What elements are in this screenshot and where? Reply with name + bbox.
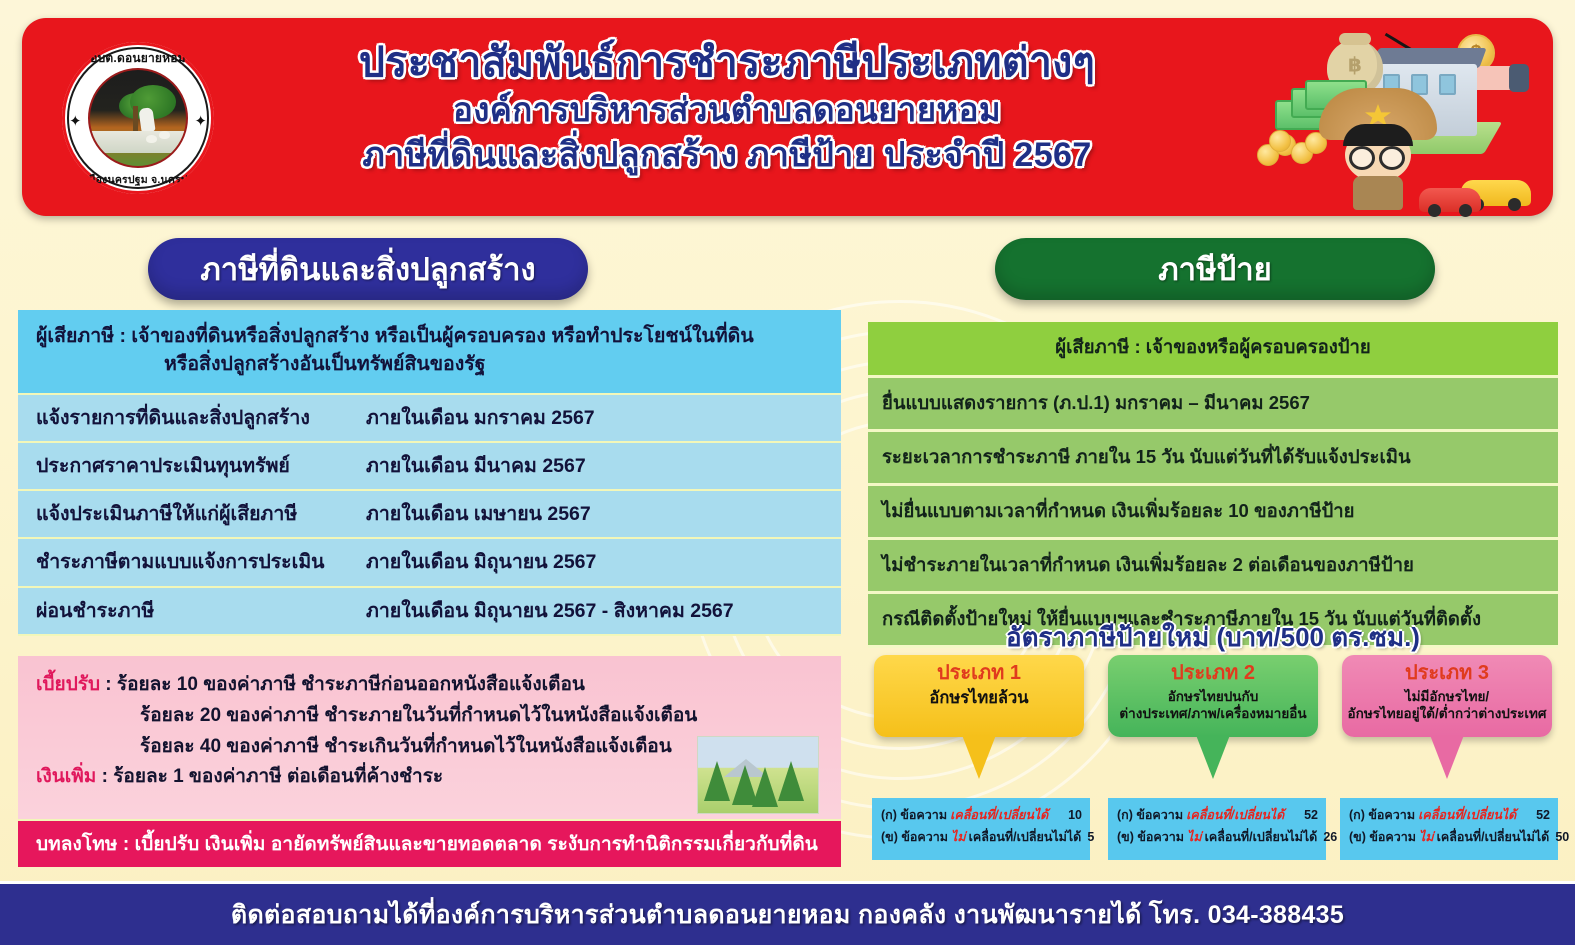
rate-3a-emphasis: เคลื่อนที่/เปลี่ยนได้ — [1418, 805, 1516, 827]
rate-row-a: (ก) ข้อความ เคลื่อนที่/เปลี่ยนได้ 52 — [1117, 805, 1318, 827]
contact-footer-text: ติดต่อสอบถามได้ที่องค์การบริหารส่วนตำบลด… — [231, 895, 1344, 935]
sign-tax-panel: ผู้เสียภาษี : เจ้าของหรือผู้ครอบครองป้าย… — [868, 322, 1558, 648]
rate-2a-emphasis: เคลื่อนที่/เปลี่ยนได้ — [1186, 805, 1284, 827]
rate-row-a: (ก) ข้อความ เคลื่อนที่/เปลี่ยนได้ 10 — [881, 805, 1082, 827]
rate-2b-suffix: เคลื่อนที่/เปลี่ยนไม่ได้ — [1205, 827, 1318, 849]
land-tax-row-label: แจ้งรายการที่ดินและสิ่งปลูกสร้าง — [36, 404, 366, 432]
rate-3a-value: 52 — [1530, 805, 1550, 827]
poster-header: ✦ ✦ อบต.ดอนยายหอม อ.เมืองนครปฐม จ.นครปฐม… — [22, 18, 1553, 216]
land-tax-row-label: แจ้งประเมินภาษีให้แก่ผู้เสียภาษี — [36, 500, 366, 528]
land-tax-taxpayer-row: ผู้เสียภาษี : เจ้าของที่ดินหรือสิ่งปลูกส… — [18, 310, 841, 395]
category-1-title: ประเภท 1 — [874, 662, 1084, 685]
sign-tax-category-badges: ประเภท 1 อักษรไทยล้วน ประเภท 2 อักษรไทยป… — [868, 655, 1558, 795]
penalty-fine-label: เบี้ยปรับ — [36, 674, 100, 695]
penalty-fine-line-2: ร้อยละ 20 ของค่าภาษี ชำระภายในวันที่กำหน… — [36, 701, 823, 732]
penalty-surcharge-label: เงินเพิ่ม — [36, 766, 96, 787]
land-tax-row-label: ประกาศราคาประเมินทุนทรัพย์ — [36, 452, 366, 480]
rate-box-category-1: (ก) ข้อความ เคลื่อนที่/เปลี่ยนได้ 10 (ข)… — [872, 798, 1090, 860]
header-line-3: ภาษีที่ดินและสิ่งปลูกสร้าง ภาษีป้าย ประจ… — [232, 136, 1222, 174]
rate-1b-value: 5 — [1081, 827, 1094, 849]
sign-tax-title-pill: ภาษีป้าย — [995, 238, 1435, 300]
red-car-icon — [1419, 188, 1481, 212]
table-row: ประกาศราคาประเมินทุนทรัพย์ ภายในเดือน มี… — [18, 443, 841, 491]
header-line-1: ประชาสัมพันธ์การชำระภาษีประเภทต่างๆ — [232, 40, 1222, 86]
category-1-desc-1: อักษรไทยล้วน — [874, 689, 1084, 709]
list-item: ระยะเวลาการชำระภาษี ภายใน 15 วัน นับแต่ว… — [868, 432, 1558, 486]
rate-2a-prefix: (ก) ข้อความ — [1117, 805, 1183, 827]
rate-2b-emphasis: ไม่ — [1187, 827, 1202, 849]
rate-3b-suffix: เคลื่อนที่/เปลี่ยนไม่ได้ — [1437, 827, 1550, 849]
rate-row-b: (ข) ข้อความ ไม่ เคลื่อนที่/เปลี่ยนไม่ได้… — [1349, 827, 1550, 849]
contact-footer-bar: ติดต่อสอบถามได้ที่องค์การบริหารส่วนตำบลด… — [0, 881, 1575, 945]
land-tax-panel: ผู้เสียภาษี : เจ้าของที่ดินหรือสิ่งปลูกส… — [18, 310, 841, 636]
category-badge-1: ประเภท 1 อักษรไทยล้วน — [874, 655, 1084, 737]
category-3-title: ประเภท 3 — [1342, 662, 1552, 685]
mascot-character-icon — [1319, 88, 1437, 208]
land-tax-taxpayer-line-1: ผู้เสียภาษี : เจ้าของที่ดินหรือสิ่งปลูกส… — [36, 322, 827, 350]
category-3-desc-2: อักษรไทยอยู่ใต้/ต่ำกว่าต่างประเทศ — [1342, 706, 1552, 722]
land-tax-title-pill: ภาษีที่ดินและสิ่งปลูกสร้าง — [148, 238, 588, 300]
rate-1a-prefix: (ก) ข้อความ — [881, 805, 947, 827]
penalty-fine-line-1: เบี้ยปรับ : ร้อยละ 10 ของค่าภาษี ชำระภาษ… — [36, 670, 823, 701]
rate-2b-value: 26 — [1317, 827, 1337, 849]
category-2-desc-2: ต่างประเทศ/ภาพ/เครื่องหมายอื่น — [1108, 706, 1318, 722]
land-tax-row-label: ชำระภาษีตามแบบแจ้งการประเมิน — [36, 548, 366, 576]
land-tax-punishment-bar: บทลงโทษ : เบี้ยปรับ เงินเพิ่ม อายัดทรัพย… — [18, 821, 841, 867]
rate-box-category-3: (ก) ข้อความ เคลื่อนที่/เปลี่ยนได้ 52 (ข)… — [1340, 798, 1558, 860]
land-tax-row-value: ภายในเดือน มิถุนายน 2567 — [366, 548, 827, 576]
land-tax-row-value: ภายในเดือน มกราคม 2567 — [366, 404, 827, 432]
rate-3b-prefix: (ข) ข้อความ — [1349, 827, 1416, 849]
poster-root: ✦ ✦ อบต.ดอนยายหอม อ.เมืองนครปฐม จ.นครปฐม… — [0, 0, 1575, 945]
rate-1b-prefix: (ข) ข้อความ — [881, 827, 948, 849]
rate-3a-prefix: (ก) ข้อความ — [1349, 805, 1415, 827]
header-illustration: $ ฿ — [1209, 26, 1539, 212]
rate-3b-emphasis: ไม่ — [1419, 827, 1434, 849]
penalty-surcharge-text: : ร้อยละ 1 ของค่าภาษี ต่อเดือนที่ค้างชำร… — [102, 766, 444, 787]
logo-top-text: อบต.ดอนยายหอม — [62, 49, 214, 68]
category-badge-2: ประเภท 2 อักษรไทยปนกับ ต่างประเทศ/ภาพ/เค… — [1108, 655, 1318, 737]
land-tax-row-value: ภายในเดือน มิถุนายน 2567 - สิงหาคม 2567 — [366, 597, 827, 625]
rate-row-b: (ข) ข้อความ ไม่ เคลื่อนที่/เปลี่ยนไม่ได้… — [1117, 827, 1318, 849]
table-row: แจ้งรายการที่ดินและสิ่งปลูกสร้าง ภายในเด… — [18, 395, 841, 443]
sign-tax-rate-title: อัตราภาษีป้ายใหม่ (บาท/500 ตร.ซม.) — [868, 617, 1558, 658]
penalty-fine-text-1: : ร้อยละ 10 ของค่าภาษี ชำระภาษีก่อนออกหน… — [105, 674, 585, 695]
header-title-block: ประชาสัมพันธ์การชำระภาษีประเภทต่างๆ องค์… — [232, 40, 1222, 174]
list-item: ยื่นแบบแสดงรายการ (ภ.ป.1) มกราคม – มีนาค… — [868, 378, 1558, 432]
land-tax-row-label: ผ่อนชำระภาษี — [36, 597, 366, 625]
land-tax-penalty-box: เบี้ยปรับ : ร้อยละ 10 ของค่าภาษี ชำระภาษ… — [18, 656, 841, 821]
table-row: ชำระภาษีตามแบบแจ้งการประเมิน ภายในเดือน … — [18, 539, 841, 587]
rate-row-a: (ก) ข้อความ เคลื่อนที่/เปลี่ยนได้ 52 — [1349, 805, 1550, 827]
table-row: แจ้งประเมินภาษีให้แก่ผู้เสียภาษี ภายในเด… — [18, 491, 841, 539]
list-item: ไม่ยื่นแบบตามเวลาที่กำหนด เงินเพิ่มร้อยล… — [868, 486, 1558, 540]
land-tax-row-value: ภายในเดือน มีนาคม 2567 — [366, 452, 827, 480]
category-3-desc-1: ไม่มีอักษรไทย/ — [1342, 689, 1552, 705]
rate-3b-value: 50 — [1549, 827, 1569, 849]
category-2-desc-1: อักษรไทยปนกับ — [1108, 689, 1318, 705]
sign-tax-taxpayer-row: ผู้เสียภาษี : เจ้าของหรือผู้ครอบครองป้าย — [868, 322, 1558, 378]
landscape-photo — [697, 736, 819, 814]
rate-1a-emphasis: เคลื่อนที่/เปลี่ยนได้ — [950, 805, 1048, 827]
rate-1b-suffix: เคลื่อนที่/เปลี่ยนไม่ได้ — [969, 827, 1082, 849]
rate-2a-value: 52 — [1298, 805, 1318, 827]
land-tax-row-value: ภายในเดือน เมษายน 2567 — [366, 500, 827, 528]
logo-bottom-text: อ.เมืองนครปฐม จ.นครปฐม — [62, 171, 214, 188]
category-2-title: ประเภท 2 — [1108, 662, 1318, 685]
rate-1b-emphasis: ไม่ — [951, 827, 966, 849]
land-tax-taxpayer-line-2: หรือสิ่งปลูกสร้างอันเป็นทรัพย์สินของรัฐ — [36, 350, 827, 378]
category-badge-3: ประเภท 3 ไม่มีอักษรไทย/ อักษรไทยอยู่ใต้/… — [1342, 655, 1552, 737]
table-row: ผ่อนชำระภาษี ภายในเดือน มิถุนายน 2567 - … — [18, 588, 841, 636]
header-line-2: องค์การบริหารส่วนตำบลดอนยายหอม — [232, 92, 1222, 129]
rate-1a-value: 10 — [1062, 805, 1082, 827]
organization-logo: ✦ ✦ อบต.ดอนยายหอม อ.เมืองนครปฐม จ.นครปฐม — [62, 42, 214, 194]
rate-2b-prefix: (ข) ข้อความ — [1117, 827, 1184, 849]
list-item: ไม่ชำระภายในเวลาที่กำหนด เงินเพิ่มร้อยละ… — [868, 540, 1558, 594]
rate-row-b: (ข) ข้อความ ไม่ เคลื่อนที่/เปลี่ยนไม่ได้… — [881, 827, 1082, 849]
rate-box-category-2: (ก) ข้อความ เคลื่อนที่/เปลี่ยนได้ 52 (ข)… — [1108, 798, 1326, 860]
